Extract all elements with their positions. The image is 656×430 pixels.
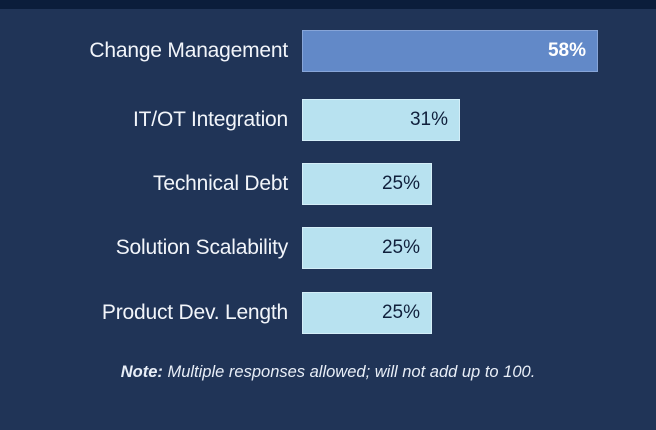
bar-track: 25% bbox=[302, 292, 432, 334]
chart-plot-area: Change Management 58% IT/OT Integration … bbox=[0, 22, 656, 342]
bar-row: IT/OT Integration 31% bbox=[0, 99, 656, 141]
footnote-prefix: Note: bbox=[121, 363, 163, 381]
bar-value-label: 31% bbox=[410, 109, 459, 131]
footnote-body: Multiple responses allowed; will not add… bbox=[163, 363, 535, 381]
top-accent-band bbox=[0, 0, 656, 9]
bar-fill: 25% bbox=[302, 163, 432, 205]
bar-track: 25% bbox=[302, 163, 432, 205]
bar-value-label: 25% bbox=[382, 302, 431, 324]
bar-value-label: 58% bbox=[548, 40, 597, 62]
bar-value-label: 25% bbox=[382, 173, 431, 195]
bar-fill: 58% bbox=[302, 30, 598, 72]
chart-footnote: Note: Multiple responses allowed; will n… bbox=[0, 363, 656, 382]
bar-fill: 25% bbox=[302, 292, 432, 334]
bar-value-label: 25% bbox=[382, 237, 431, 259]
bar-row: Technical Debt 25% bbox=[0, 163, 656, 205]
bar-row: Change Management 58% bbox=[0, 30, 656, 72]
bar-row: Product Dev. Length 25% bbox=[0, 292, 656, 334]
bar-category-label: IT/OT Integration bbox=[0, 99, 288, 141]
bar-track: 31% bbox=[302, 99, 460, 141]
bar-category-label: Product Dev. Length bbox=[0, 292, 288, 334]
bar-fill: 31% bbox=[302, 99, 460, 141]
bar-chart-panel: Change Management 58% IT/OT Integration … bbox=[0, 0, 656, 430]
bar-category-label: Technical Debt bbox=[0, 163, 288, 205]
bar-category-label: Change Management bbox=[0, 30, 288, 72]
bar-category-label: Solution Scalability bbox=[0, 227, 288, 269]
bar-track: 25% bbox=[302, 227, 432, 269]
bar-fill: 25% bbox=[302, 227, 432, 269]
bar-track: 58% bbox=[302, 30, 598, 72]
bar-row: Solution Scalability 25% bbox=[0, 227, 656, 269]
